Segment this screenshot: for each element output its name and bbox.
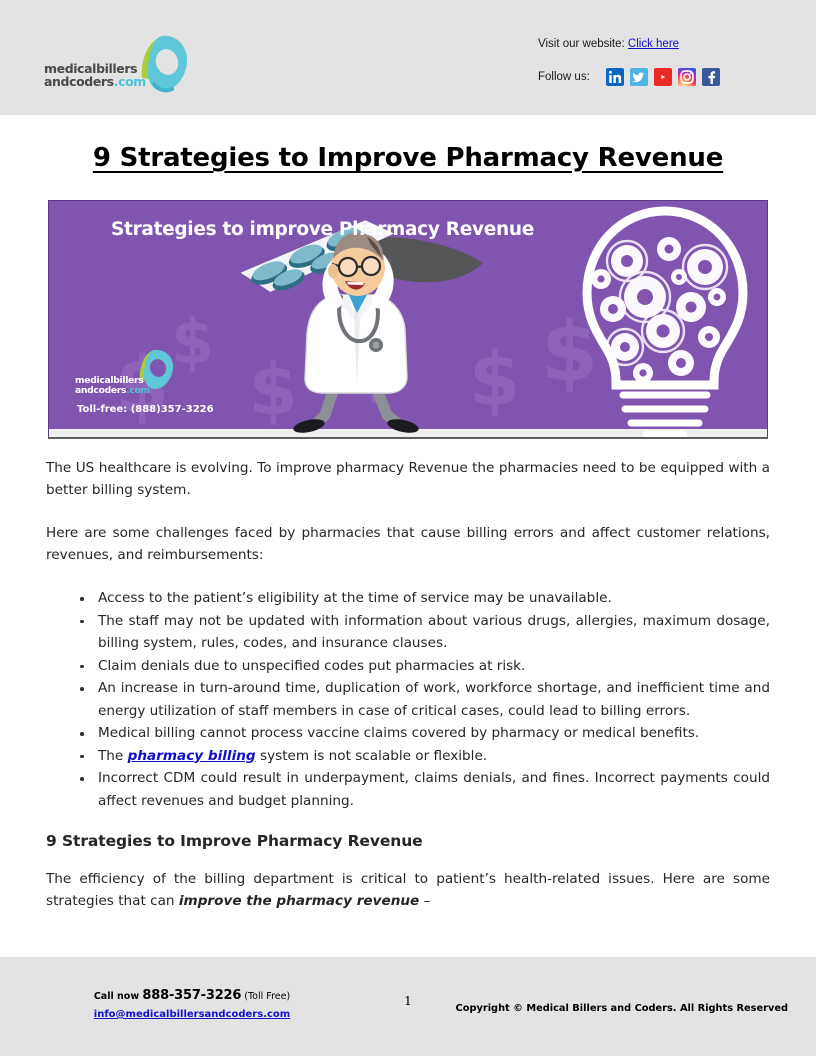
logo-wordmark: medicalbillers andcoders.com [44,63,146,88]
list-item: Access to the patient’s eligibility at t… [78,587,770,610]
visit-website-label: Visit our website: [538,38,625,50]
banner-logo-line-2: andcoders [75,385,126,396]
facebook-icon[interactable] [702,68,720,86]
list-item-text-post: system is not scalable or flexible. [256,748,487,764]
article-body: The US healthcare is evolving. To improv… [46,457,770,933]
copyright-notice: Copyright © Medical Billers and Coders. … [456,1003,788,1014]
visit-website-line: Visit our website: Click here [538,36,788,52]
banner-logo-wordmark: medicalbillers andcoders.com [75,376,150,395]
article-banner-image: $ $ $ $ $ $ Strategies to improve Pharma… [48,200,768,437]
horizontal-rule [48,437,768,439]
youtube-icon[interactable] [654,68,672,86]
intro-paragraph: The US healthcare is evolving. To improv… [46,457,770,501]
follow-us-label: Follow us: [538,71,590,83]
lightbulb-with-gears-icon [567,205,763,437]
logo-dotcom: .com [114,74,146,89]
twitter-icon[interactable] [630,68,648,86]
emphasis-phrase: improve the pharmacy revenue [179,893,419,909]
click-here-link[interactable]: Click here [628,38,679,50]
list-item: The pharmacy billing system is not scala… [78,745,770,768]
follow-us-line: Follow us: [538,68,788,86]
banner-headline: Strategies to improve Pharmacy Revenue [111,219,534,240]
section-heading: 9 Strategies to Improve Pharmacy Revenue [46,832,770,850]
footer-email-link[interactable]: info@medicalbillersandcoders.com [94,1009,290,1020]
list-item: Medical billing cannot process vaccine c… [78,722,770,745]
list-item: An increase in turn-around time, duplica… [78,677,770,722]
social-icon-row [606,68,720,86]
instagram-icon[interactable] [678,68,696,86]
company-logo[interactable]: medicalbillers andcoders.com [44,32,194,94]
dollar-sign-decor: $ [171,305,214,378]
list-item: The staff may not be updated with inform… [78,610,770,655]
closing-paragraph: The efficiency of the billing department… [46,868,770,912]
list-item: Claim denials due to unspecified codes p… [78,655,770,678]
banner-company-logo: medicalbillers andcoders.com [75,349,175,397]
header-links: Visit our website: Click here Follow us: [538,36,788,86]
logo-line-2: andcoders [44,74,114,89]
list-item-text-pre: The [98,748,128,764]
challenges-lead-paragraph: Here are some challenges faced by pharma… [46,522,770,566]
page-title: 9 Strategies to Improve Pharmacy Revenue [46,143,770,173]
banner-logo-dotcom: .com [126,385,150,396]
challenges-list: Access to the patient’s eligibility at t… [46,587,770,812]
pharmacist-illustration [221,209,541,437]
linkedin-icon[interactable] [606,68,624,86]
pharmacy-billing-link[interactable]: pharmacy billing [128,748,256,764]
closing-text-post: – [419,893,430,909]
list-item: Incorrect CDM could result in underpayme… [78,767,770,812]
banner-toll-free-number: Toll-free: (888)357-3226 [77,404,214,415]
